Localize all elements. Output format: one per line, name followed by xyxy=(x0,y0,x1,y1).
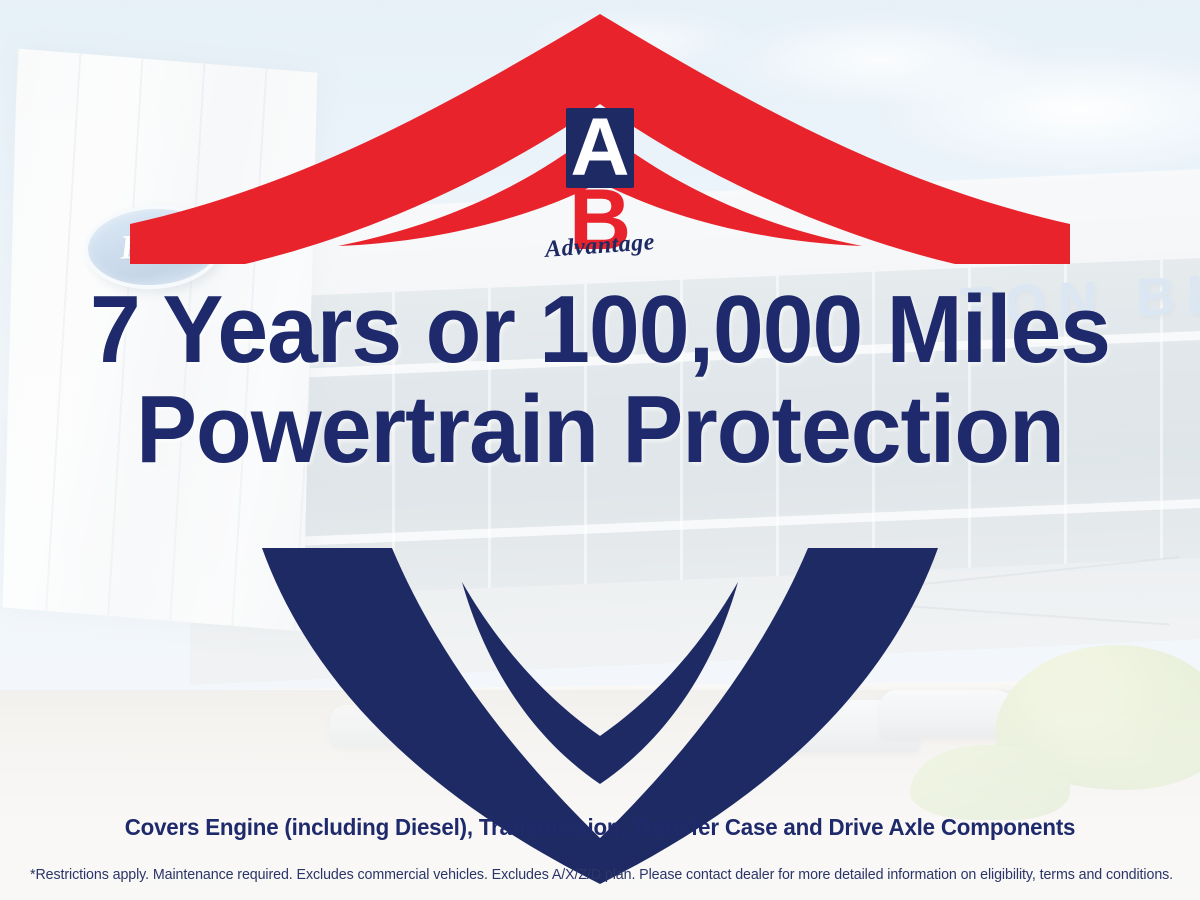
advertisement-canvas: TON BLA Ford A xyxy=(0,0,1200,900)
headline-line-1: 7 Years or 100,000 Miles xyxy=(30,280,1170,380)
headline: 7 Years or 100,000 Miles Powertrain Prot… xyxy=(30,280,1170,480)
coverage-statement: Covers Engine (including Diesel), Transm… xyxy=(18,814,1182,841)
ab-advantage-logo: A B Advantage xyxy=(530,108,670,260)
headline-line-2: Powertrain Protection xyxy=(30,380,1170,480)
legal-disclaimer: *Restrictions apply. Maintenance require… xyxy=(30,866,1170,883)
